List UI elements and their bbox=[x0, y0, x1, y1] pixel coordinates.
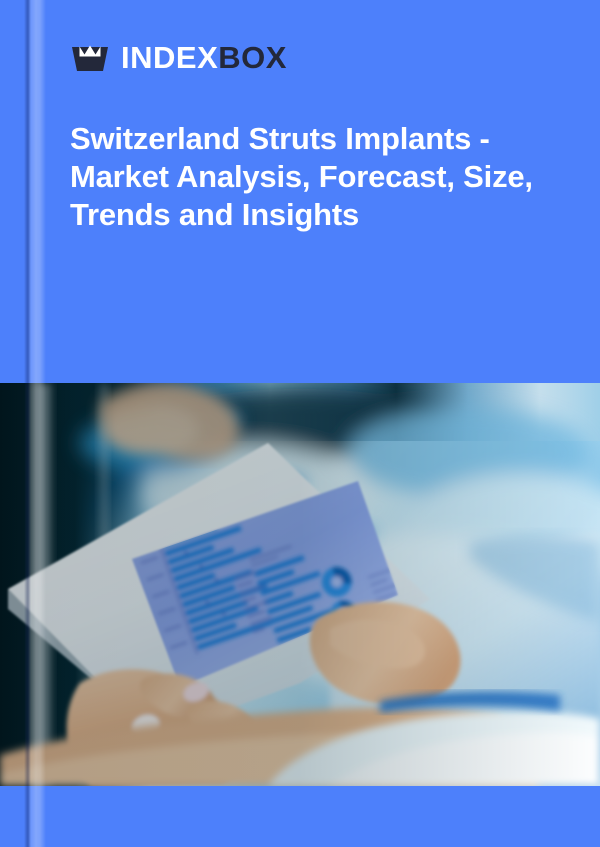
hero-photo-tablet-analytics bbox=[0, 383, 600, 786]
footer-band bbox=[0, 786, 600, 847]
crown-basket-logo-icon bbox=[70, 43, 110, 73]
brand-wordmark-box: BOX bbox=[218, 40, 287, 75]
report-cover-page: INDEXBOX Switzerland Struts Implants - M… bbox=[0, 0, 600, 847]
page-title: Switzerland Struts Implants - Market Ana… bbox=[70, 120, 560, 233]
header-banner: INDEXBOX Switzerland Struts Implants - M… bbox=[0, 0, 600, 383]
brand-wordmark-index: INDEX bbox=[121, 40, 218, 75]
brand-wordmark: INDEXBOX bbox=[121, 42, 287, 73]
brand-logo[interactable]: INDEXBOX bbox=[70, 42, 287, 73]
